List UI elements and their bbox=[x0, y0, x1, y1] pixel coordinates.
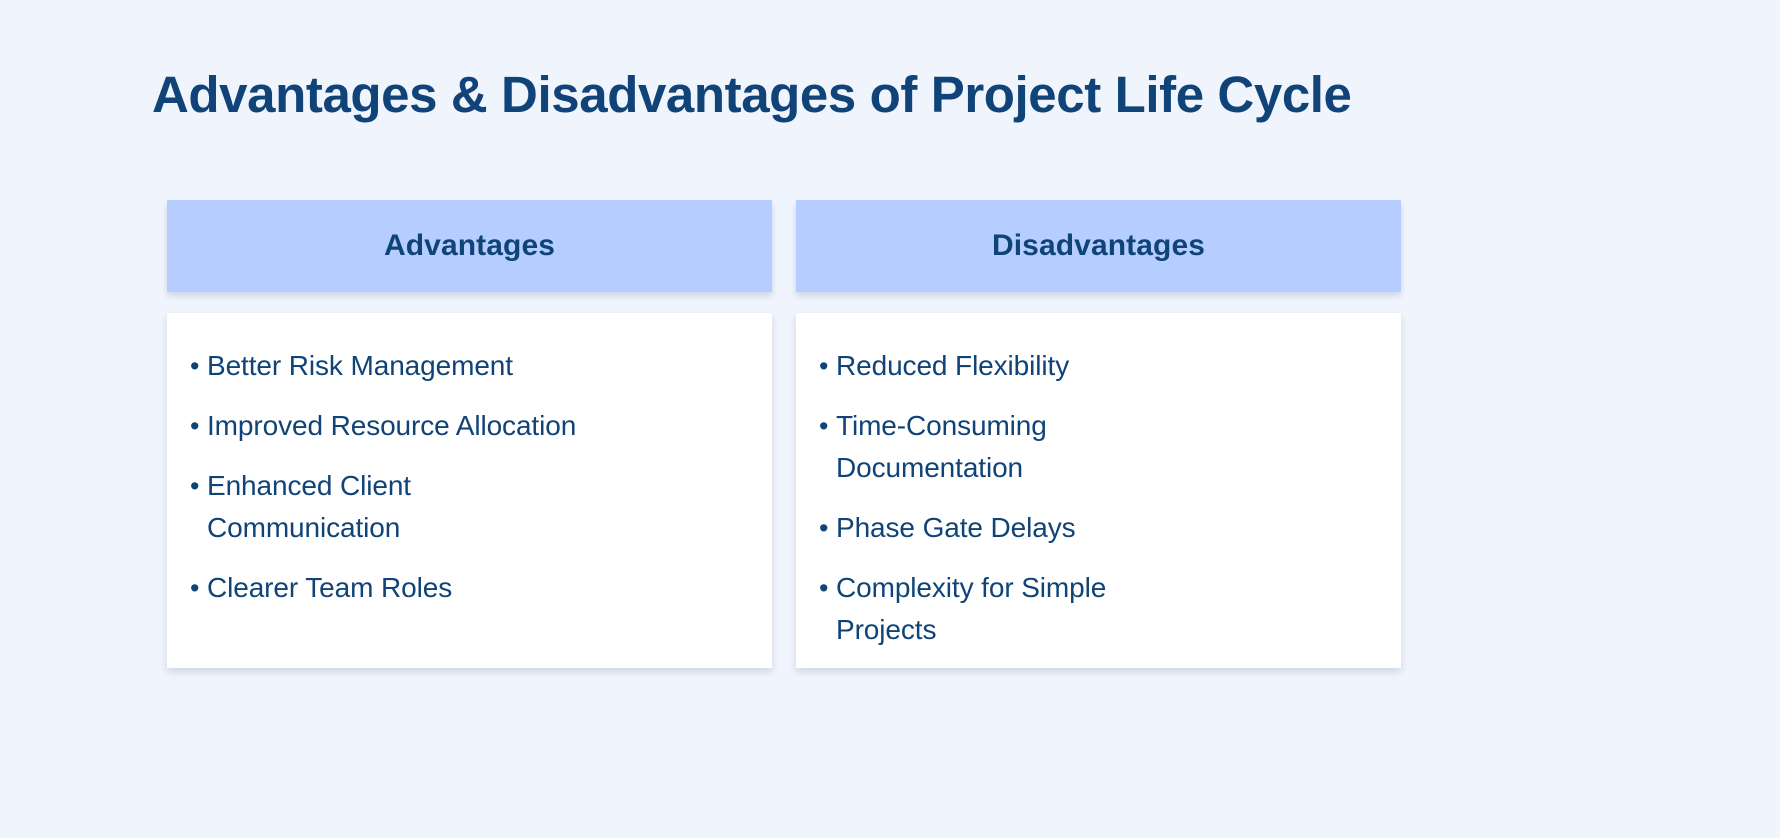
column-header-label: Disadvantages bbox=[992, 229, 1205, 263]
column-header-label: Advantages bbox=[384, 229, 555, 263]
bullet-icon: • bbox=[810, 405, 836, 447]
list-item: • Phase Gate Delays bbox=[810, 507, 1387, 549]
bullet-icon: • bbox=[810, 567, 836, 609]
page-title: Advantages & Disadvantages of Project Li… bbox=[152, 66, 1652, 123]
column-body-disadvantages: • Reduced Flexibility • Time-Consuming D… bbox=[796, 313, 1401, 668]
list-item-label: Clearer Team Roles bbox=[207, 567, 452, 609]
list-item: • Better Risk Management bbox=[181, 345, 758, 387]
bullet-icon: • bbox=[181, 567, 207, 609]
list-item-label: Enhanced Client Communication bbox=[207, 465, 411, 549]
bullet-icon: • bbox=[181, 405, 207, 447]
bullet-icon: • bbox=[181, 345, 207, 387]
bullet-icon: • bbox=[810, 507, 836, 549]
list-item-label: Phase Gate Delays bbox=[836, 507, 1076, 549]
list-item: • Complexity for Simple Projects bbox=[810, 567, 1387, 651]
column-advantages: Advantages • Better Risk Management • Im… bbox=[167, 200, 772, 668]
list-item-label: Reduced Flexibility bbox=[836, 345, 1069, 387]
slide-root: Advantages & Disadvantages of Project Li… bbox=[0, 0, 1780, 838]
column-header-advantages: Advantages bbox=[167, 200, 772, 292]
column-disadvantages: Disadvantages • Reduced Flexibility • Ti… bbox=[796, 200, 1401, 668]
column-header-disadvantages: Disadvantages bbox=[796, 200, 1401, 292]
list-item: • Improved Resource Allocation bbox=[181, 405, 758, 447]
bullet-icon: • bbox=[181, 465, 207, 507]
list-item: • Clearer Team Roles bbox=[181, 567, 758, 609]
column-body-advantages: • Better Risk Management • Improved Reso… bbox=[167, 313, 772, 668]
list-item-label: Improved Resource Allocation bbox=[207, 405, 576, 447]
comparison-columns: Advantages • Better Risk Management • Im… bbox=[167, 200, 1401, 668]
advantages-list: • Better Risk Management • Improved Reso… bbox=[181, 345, 758, 609]
list-item: • Time-Consuming Documentation bbox=[810, 405, 1387, 489]
list-item: • Enhanced Client Communication bbox=[181, 465, 758, 549]
list-item-label: Better Risk Management bbox=[207, 345, 513, 387]
bullet-icon: • bbox=[810, 345, 836, 387]
list-item: • Reduced Flexibility bbox=[810, 345, 1387, 387]
disadvantages-list: • Reduced Flexibility • Time-Consuming D… bbox=[810, 345, 1387, 651]
list-item-label: Time-Consuming Documentation bbox=[836, 405, 1047, 489]
list-item-label: Complexity for Simple Projects bbox=[836, 567, 1106, 651]
